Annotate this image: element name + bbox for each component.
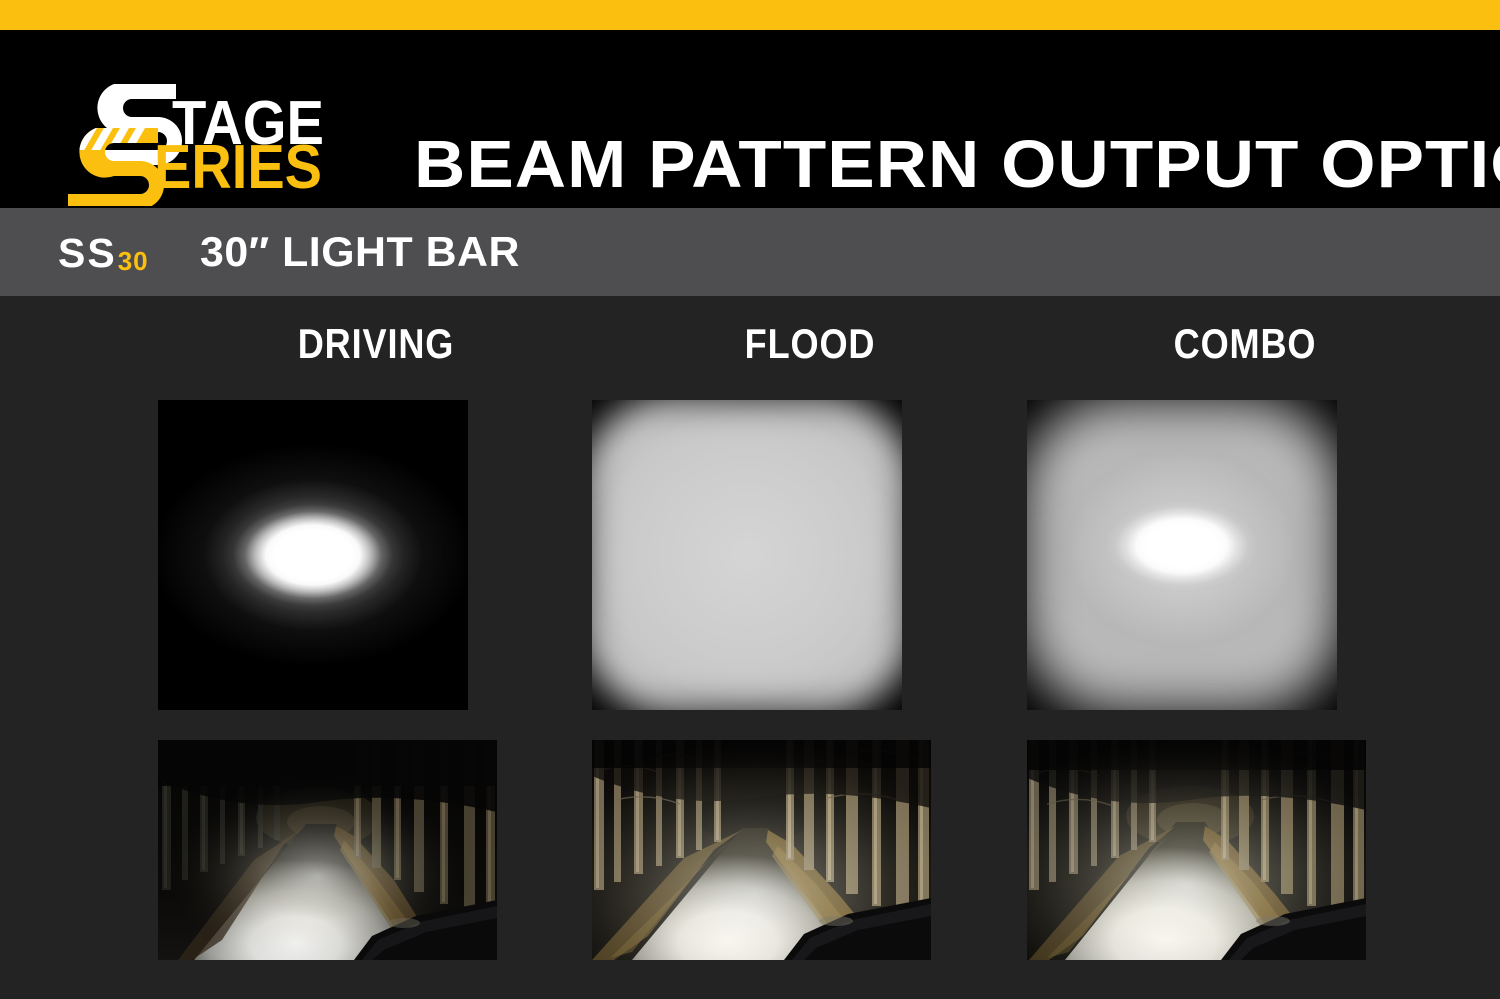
beam-flood-soft	[592, 400, 902, 710]
beam-combo-hotspot	[1027, 400, 1337, 710]
column-label-flood: FLOOD	[623, 320, 998, 368]
header-bar: TAGE ERIE	[0, 30, 1500, 208]
model-prefix: SS	[58, 230, 117, 276]
beam-pattern-driving	[158, 400, 468, 710]
beam-hotspot	[158, 400, 468, 710]
model-number: 30	[118, 246, 149, 276]
content-area: DRIVING	[0, 296, 1500, 999]
page-title: BEAM PATTERN OUTPUT OPTIONS	[414, 126, 1500, 204]
column-label-combo: COMBO	[1058, 320, 1433, 368]
beam-pattern-combo	[1027, 400, 1337, 710]
svg-text:ERIES: ERIES	[154, 133, 322, 202]
stage-series-logo: TAGE ERIE	[62, 76, 324, 206]
column-label-driving: DRIVING	[189, 320, 564, 368]
product-name: 30″ LIGHT BAR	[200, 226, 520, 278]
road-photo-driving	[158, 740, 497, 960]
beam-pattern-flood	[592, 400, 902, 710]
road-photo-flood	[592, 740, 931, 960]
model-badge: SS30	[58, 231, 148, 281]
road-photo-combo	[1027, 740, 1366, 960]
beam-pattern-infographic: TAGE ERIE	[0, 0, 1500, 999]
top-accent-stripe	[0, 0, 1500, 30]
